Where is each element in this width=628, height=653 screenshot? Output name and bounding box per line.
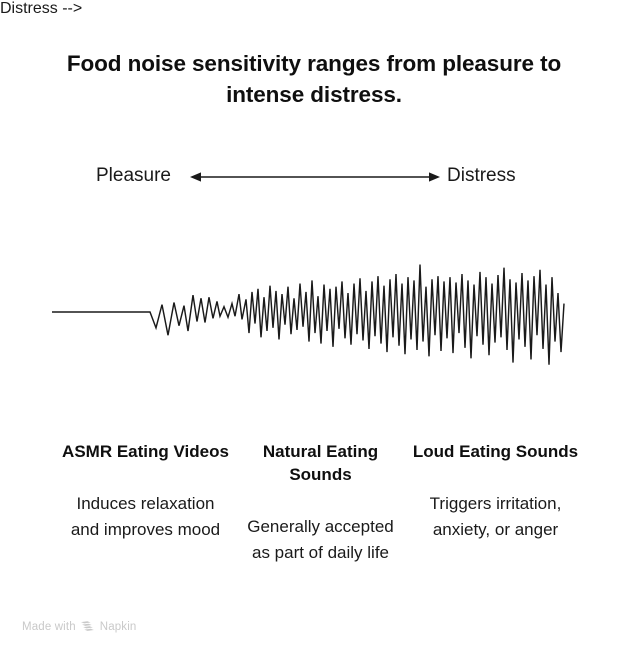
column-heading: Loud Eating Sounds [412,440,579,463]
column-natural-eating-sounds: Natural Eating Sounds Generally accepted… [233,440,408,565]
column-body: Induces relaxation and improves mood [62,491,229,542]
infographic-canvas: Food noise sensitivity ranges from pleas… [0,0,628,653]
watermark-made-with-label: Made with [22,620,76,634]
spectrum-left-label: Pleasure [96,163,171,189]
column-asmr-eating-videos: ASMR Eating Videos Induces relaxation an… [58,440,233,542]
column-heading: ASMR Eating Videos [62,440,229,463]
audio-waveform-chart [0,248,628,376]
watermark-brand-label: Napkin [100,620,137,634]
waveform-line [52,265,564,365]
double-headed-arrow-icon [190,165,440,189]
napkin-watermark: Made with Napkin [22,620,136,634]
column-body: Generally accepted as part of daily life [237,514,404,565]
category-columns: ASMR Eating Videos Induces relaxation an… [0,440,628,565]
page-title: Food noise sensitivity ranges from pleas… [34,48,594,110]
column-heading: Natural Eating Sounds [237,440,404,486]
spectrum-right-label: Distress [447,163,516,189]
spectrum-scale: Pleasure Distress [0,163,628,191]
column-loud-eating-sounds: Loud Eating Sounds Triggers irritation, … [408,440,583,542]
column-body: Triggers irritation, anxiety, or anger [412,491,579,542]
napkin-chevron-logo-icon [81,621,95,633]
